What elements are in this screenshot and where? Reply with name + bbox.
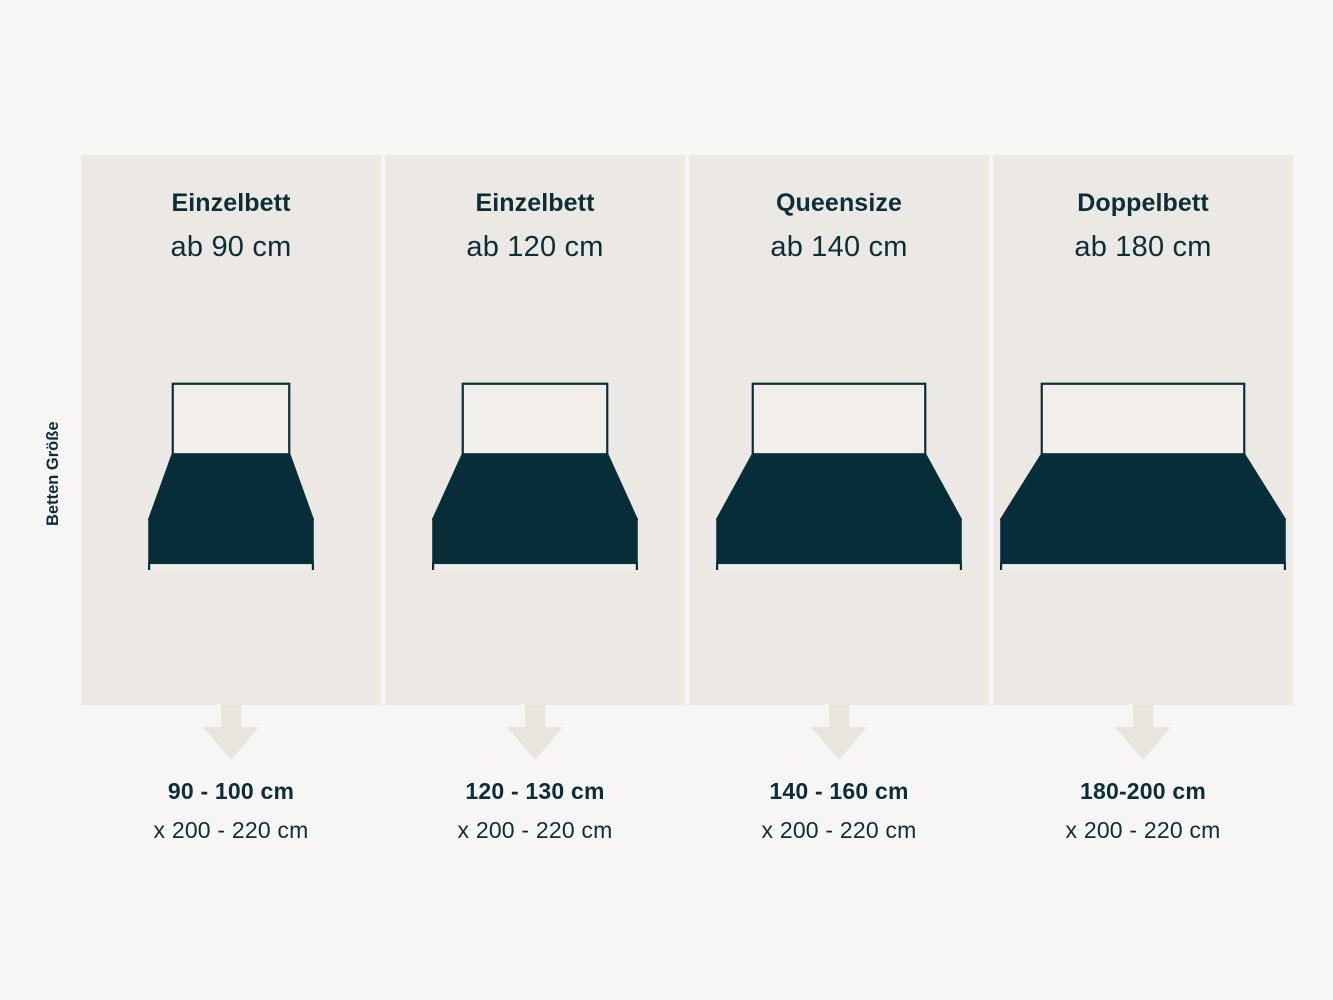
axis-label-text: Betten Größe — [40, 336, 66, 526]
dimension-width: 120 - 130 cm — [385, 780, 685, 803]
infographic-canvas: Betten Größe Einzelbett ab 90 cm 90 - 10… — [0, 0, 1333, 1000]
column-title: Einzelbett — [385, 191, 685, 216]
column-subtitle: ab 90 cm — [81, 233, 381, 262]
size-column-2: Einzelbett ab 120 cm — [385, 155, 685, 705]
arrow-down-icon — [1114, 705, 1172, 761]
bed-illustration-1 — [81, 370, 381, 570]
dimension-length: x 200 - 220 cm — [385, 819, 685, 842]
column-title: Doppelbett — [993, 191, 1293, 216]
dimension-width: 140 - 160 cm — [689, 780, 989, 803]
dimension-length: x 200 - 220 cm — [689, 819, 989, 842]
size-column-1: Einzelbett ab 90 cm — [81, 155, 381, 705]
column-header-1: Einzelbett ab 90 cm — [81, 191, 381, 262]
dimension-width: 90 - 100 cm — [81, 780, 381, 803]
size-column-3: Queensize ab 140 cm — [689, 155, 989, 705]
bed-illustration-3 — [689, 370, 989, 570]
arrow-down-icon — [810, 705, 868, 761]
arrow-down-icon — [202, 705, 260, 761]
column-title: Einzelbett — [81, 191, 381, 216]
column-header-4: Doppelbett ab 180 cm — [993, 191, 1293, 262]
column-dimensions-4: 180-200 cm x 200 - 220 cm — [993, 780, 1293, 842]
bed-illustration-4 — [993, 370, 1293, 570]
column-dimensions-1: 90 - 100 cm x 200 - 220 cm — [81, 780, 381, 842]
column-dimensions-2: 120 - 130 cm x 200 - 220 cm — [385, 780, 685, 842]
size-column-4: Doppelbett ab 180 cm — [993, 155, 1293, 705]
column-dimensions-3: 140 - 160 cm x 200 - 220 cm — [689, 780, 989, 842]
column-title: Queensize — [689, 191, 989, 216]
column-header-3: Queensize ab 140 cm — [689, 191, 989, 262]
axis-label: Betten Größe — [40, 336, 66, 526]
column-header-2: Einzelbett ab 120 cm — [385, 191, 685, 262]
dimension-length: x 200 - 220 cm — [81, 819, 381, 842]
bed-illustration-2 — [385, 370, 685, 570]
dimension-length: x 200 - 220 cm — [993, 819, 1293, 842]
dimension-width: 180-200 cm — [993, 780, 1293, 803]
column-subtitle: ab 120 cm — [385, 233, 685, 262]
column-subtitle: ab 140 cm — [689, 233, 989, 262]
arrow-down-icon — [506, 705, 564, 761]
column-subtitle: ab 180 cm — [993, 233, 1293, 262]
